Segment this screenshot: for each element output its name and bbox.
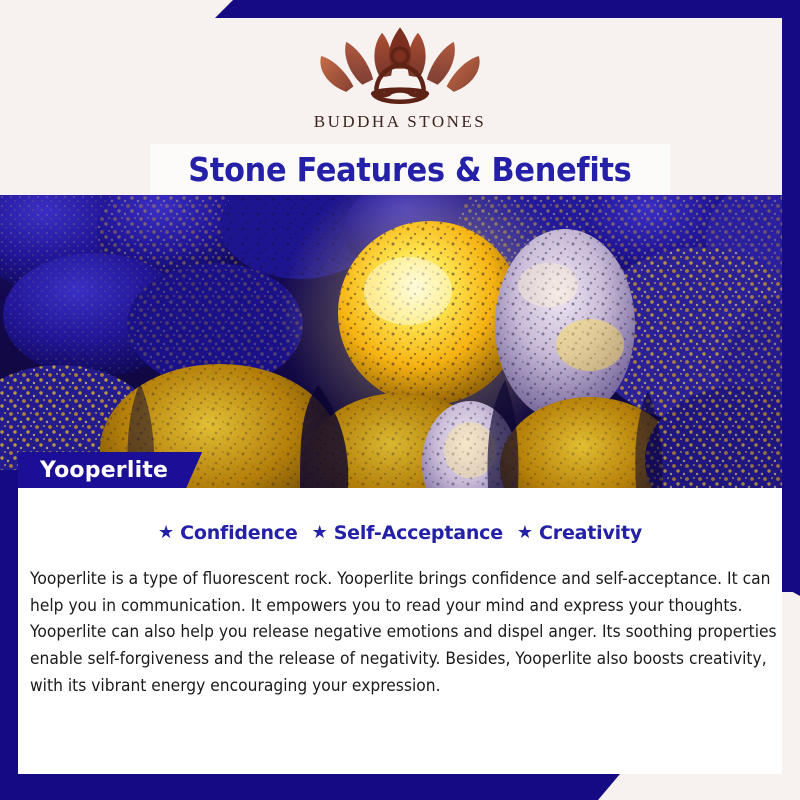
title-band: Stone Features & Benefits [150,144,670,194]
keyword-confidence: ★ Confidence [158,522,298,544]
brand-name: BUDDHA STONES [314,112,486,132]
benefit-keywords: ★ Confidence ★ Self-Acceptance ★ Creativ… [18,522,782,544]
stone-name-banner: Yooperlite [18,452,202,488]
star-icon: ★ [312,524,328,542]
page-title: Stone Features & Benefits [188,150,631,189]
brand-logo: BUDDHA STONES [0,22,800,132]
keyword-label: Confidence [180,522,297,544]
star-icon: ★ [158,524,174,542]
stone-name: Yooperlite [40,458,168,483]
card-body: ★ Confidence ★ Self-Acceptance ★ Creativ… [18,488,782,774]
card-header: BUDDHA STONES Stone Features & Benefits [0,0,800,195]
keyword-label: Self-Acceptance [334,522,503,544]
keyword-self-acceptance: ★ Self-Acceptance [312,522,503,544]
frame-left-accent [0,470,18,800]
keyword-creativity: ★ Creativity [517,522,642,544]
frame-bottom-accent [0,774,620,800]
star-icon: ★ [517,524,533,542]
lotus-meditation-icon [310,22,490,108]
yooperlite-stones-photo: Yooperlite [0,195,800,488]
stone-description: Yooperlite is a type of fluorescent rock… [30,566,791,700]
stone-info-card: BUDDHA STONES Stone Features & Benefits [0,0,800,800]
frame-top-accent [215,0,800,18]
keyword-label: Creativity [539,522,642,544]
frame-right-accent [782,0,800,592]
